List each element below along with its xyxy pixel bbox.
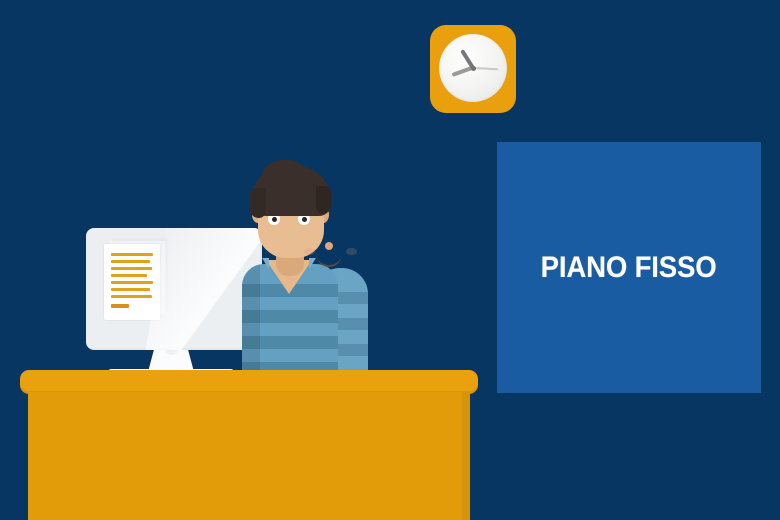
document-text-line xyxy=(111,288,150,291)
clock-face xyxy=(439,34,507,102)
document-text-line xyxy=(111,267,152,270)
wall-clock-icon xyxy=(430,25,516,113)
seated-man xyxy=(218,160,368,375)
document-icon xyxy=(104,244,160,320)
hair-right-side xyxy=(316,186,331,214)
desk-top xyxy=(20,370,478,394)
document-text-line xyxy=(111,295,152,298)
caption-panel: PIANO FISSO xyxy=(497,142,761,393)
document-text-line xyxy=(111,253,153,256)
document-signature-bar xyxy=(111,304,129,308)
clock-second-hand xyxy=(473,67,498,70)
clock-center-pin xyxy=(471,66,476,71)
document-text-line xyxy=(111,260,150,263)
desk-front-panel xyxy=(28,392,470,520)
right-pupil xyxy=(302,217,307,222)
torso-shadow xyxy=(242,264,260,376)
nose xyxy=(325,242,333,250)
left-pupil xyxy=(272,217,277,222)
illustration-scene: PIANO FISSO xyxy=(0,0,780,520)
right-cheek xyxy=(346,248,357,255)
left-cheek xyxy=(304,248,315,255)
document-text-line xyxy=(111,274,147,277)
caption-text: PIANO FISSO xyxy=(541,251,717,285)
hair-left-side xyxy=(250,188,266,218)
desk-edge-shadow xyxy=(462,392,470,520)
document-text-line xyxy=(111,281,153,284)
